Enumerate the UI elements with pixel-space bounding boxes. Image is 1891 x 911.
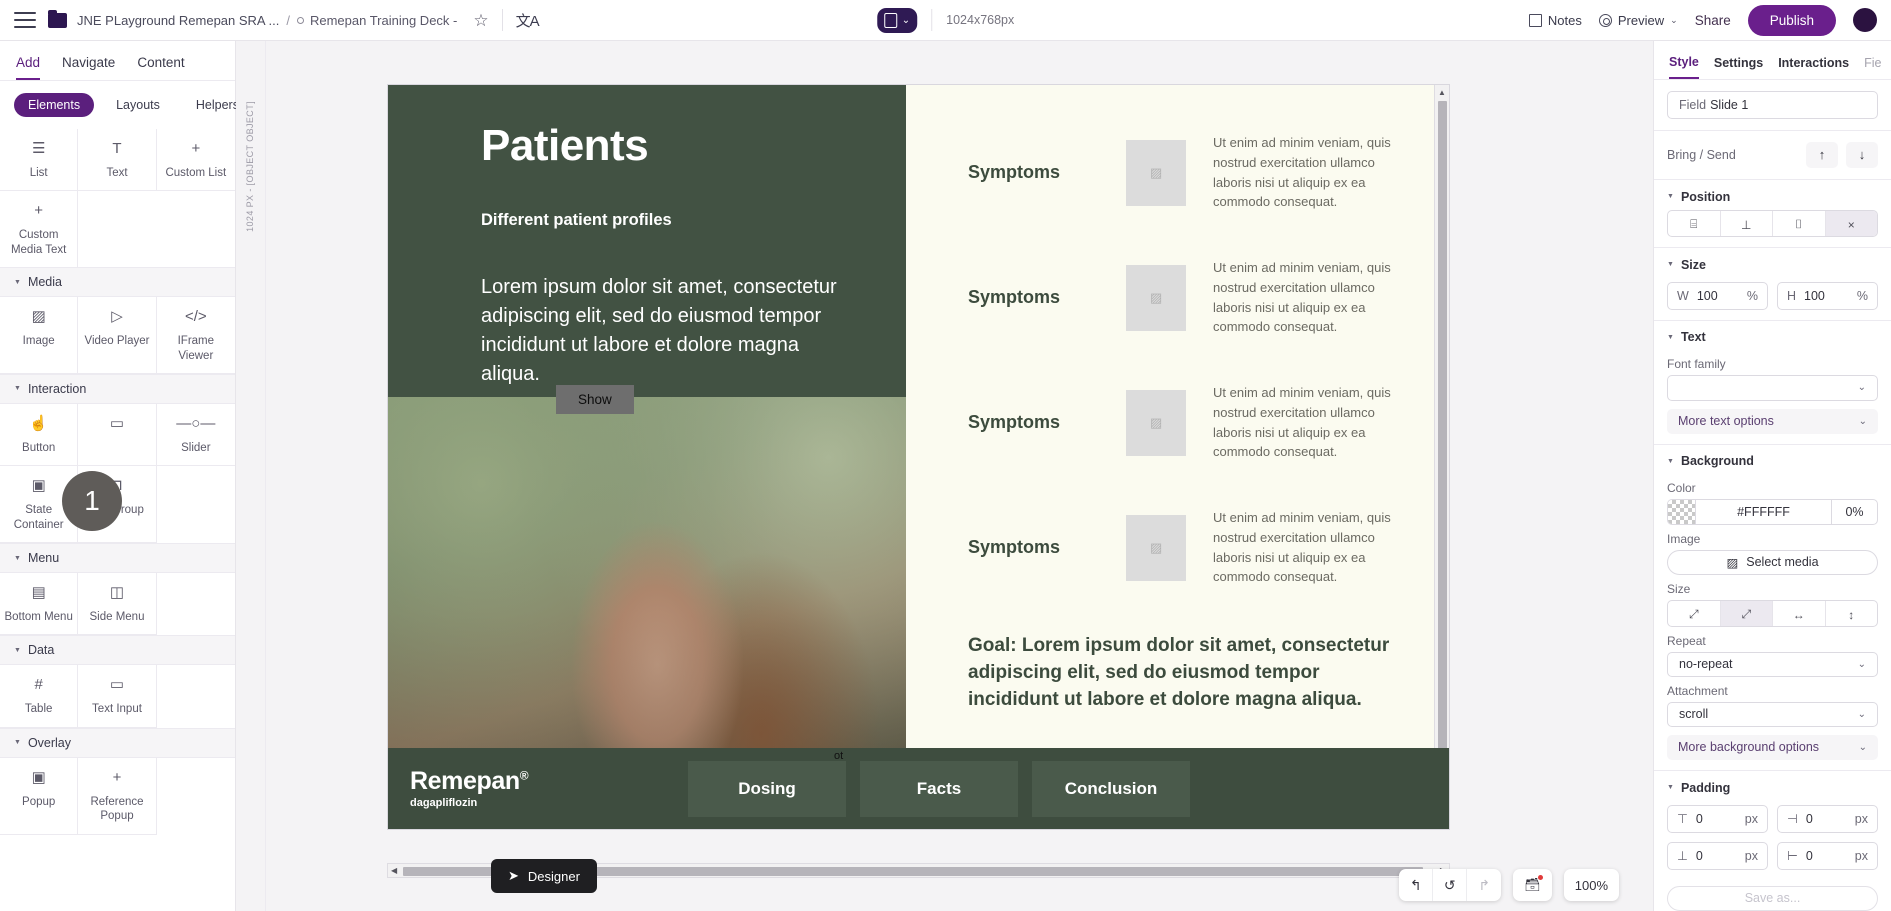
folder-icon[interactable]: [48, 13, 67, 28]
group-header-interaction[interactable]: ▼ Interaction: [0, 374, 235, 404]
field-value: Slide 1: [1710, 98, 1748, 112]
width-input[interactable]: W 100 %: [1667, 282, 1768, 310]
toolbar-divider: [502, 9, 503, 31]
publish-button[interactable]: Publish: [1748, 5, 1836, 36]
font-family-label: Font family: [1654, 350, 1891, 375]
share-button[interactable]: Share: [1695, 13, 1731, 28]
reference-popup-icon: +: [82, 770, 151, 786]
image-icon: ▨: [4, 309, 73, 325]
elements-row-basic: ☰ List T Text + Custom List + Custom Med…: [0, 129, 235, 267]
app-root: JNE PLayground Remepan SRA ... / Remepan…: [0, 0, 1891, 911]
group-title: Data: [28, 643, 54, 657]
element-table[interactable]: # Table: [0, 665, 78, 727]
group-items-menu: ▤ Bottom Menu ◫ Side Menu: [0, 573, 235, 635]
padding-right-icon: ⊣: [1787, 811, 1798, 826]
brand-name: Remepan®: [410, 769, 688, 794]
element-reference-popup[interactable]: + Reference Popup: [78, 758, 156, 835]
editor-body: Add Navigate Content Elements Layouts He…: [0, 41, 1891, 911]
breadcrumb: JNE PLayground Remepan SRA ... / Remepan…: [77, 13, 457, 28]
symptom-text: Ut enim ad minim veniam, quis nostrud ex…: [1213, 383, 1409, 462]
slide-footer: ot Remepan® dagapliflozin Dosing Facts C…: [388, 748, 1450, 829]
element-toggle[interactable]: ▭: [78, 404, 156, 466]
group-header-data[interactable]: ▼ Data: [0, 635, 235, 665]
background-color-field[interactable]: #FFFFFF 0%: [1667, 499, 1878, 524]
avatar[interactable]: [1853, 8, 1877, 32]
grid-filler: [157, 466, 235, 543]
top-actions: Notes Preview ⌄ Share Publish: [1529, 5, 1877, 36]
nav-button-conclusion[interactable]: Conclusion: [1032, 761, 1190, 817]
chip-layouts[interactable]: Layouts: [102, 93, 174, 117]
goal-text: Goal: Lorem ipsum dolor sit amet, consec…: [968, 633, 1409, 714]
chevron-down-icon: ⌄: [1670, 15, 1678, 26]
background-title: Background: [1681, 454, 1754, 468]
padding-title: Padding: [1681, 781, 1730, 795]
field-section: Field Slide 1: [1654, 80, 1891, 130]
text-icon: T: [82, 141, 151, 157]
position-absolute-bottom-option[interactable]: ⌷: [1773, 211, 1826, 237]
padding-right-input[interactable]: ⊣ 0 px: [1777, 805, 1878, 833]
slide-body-text: Lorem ipsum dolor sit amet, consectetur …: [481, 273, 851, 389]
element-label: Button: [4, 441, 73, 455]
plus-icon: +: [161, 141, 231, 157]
element-video-player[interactable]: ▷ Video Player: [78, 297, 156, 374]
tablet-icon: [884, 13, 897, 28]
more-text-options-label: More text options: [1678, 414, 1774, 428]
padding-left-value: 0: [1806, 849, 1813, 863]
slide-right-column: Symptoms ▨ Ut enim ad minim veniam, quis…: [906, 85, 1449, 829]
text-title: Text: [1681, 330, 1706, 344]
right-panel: Style Settings Interactions Fie ⌄ Field …: [1653, 41, 1891, 911]
element-label: Text Input: [82, 702, 151, 716]
video-player-icon: ▷: [82, 309, 151, 325]
chevron-down-icon: ▼: [14, 555, 21, 562]
vertical-ruler: 1024 PX - [OBJECT OBJECT]: [236, 41, 266, 911]
tab-fields[interactable]: Fie: [1864, 56, 1881, 78]
padding-left-icon: ⊢: [1787, 848, 1798, 863]
bring-send-controls: ↑ ↓: [1806, 142, 1878, 168]
chevron-down-icon: ⌄: [1858, 709, 1866, 720]
bring-send-label: Bring / Send: [1667, 148, 1736, 162]
scroll-up-icon[interactable]: ▲: [1438, 85, 1446, 100]
symptom-thumbnail[interactable]: ▨: [1126, 140, 1186, 206]
bring-send-section: Bring / Send ↑ ↓: [1654, 131, 1891, 179]
symptom-title: Symptoms: [968, 537, 1126, 558]
group-title: Interaction: [28, 382, 86, 396]
padding-left-unit: px: [1855, 849, 1868, 863]
size-title: Size: [1681, 258, 1706, 272]
popup-icon: ▣: [4, 770, 73, 786]
background-attachment-select[interactable]: scroll ⌄: [1667, 702, 1878, 727]
background-attachment-label: Attachment: [1654, 677, 1891, 702]
tab-style[interactable]: Style: [1669, 55, 1699, 79]
symptom-row: Symptoms ▨ Ut enim ad minim veniam, quis…: [968, 133, 1409, 212]
element-text[interactable]: T Text: [78, 129, 156, 191]
position-section-header[interactable]: ▼ Position: [1654, 180, 1891, 210]
send-icon: ➤: [508, 868, 519, 884]
designer-label: Designer: [528, 869, 580, 884]
chevron-down-icon: ▼: [14, 279, 21, 286]
bg-size-height-option[interactable]: ↕: [1826, 601, 1878, 627]
chevron-down-icon: ▼: [1667, 193, 1674, 200]
grid-filler: [157, 573, 235, 635]
bg-size-contain-option[interactable]: ⤢: [1721, 601, 1774, 627]
redo-button[interactable]: ↱: [1467, 869, 1501, 901]
center-divider: [931, 9, 932, 31]
symptom-text: Ut enim ad minim veniam, quis nostrud ex…: [1213, 508, 1409, 587]
padding-right-unit: px: [1855, 812, 1868, 826]
background-attachment-value: scroll: [1679, 707, 1708, 721]
chevron-down-icon: ⌄: [1859, 742, 1867, 753]
plus-icon: +: [4, 203, 73, 219]
background-color-label: Color: [1654, 474, 1891, 499]
grid-filler: [157, 191, 235, 267]
element-custom-media-text[interactable]: + Custom Media Text: [0, 191, 78, 267]
right-panel-tabs: Style Settings Interactions Fie ⌄: [1654, 41, 1891, 79]
bottom-menu-icon: ▤: [4, 585, 73, 601]
element-category-chips: Elements Layouts Helpers: [0, 81, 235, 129]
position-none-option[interactable]: ×: [1826, 211, 1878, 237]
group-title: Media: [28, 275, 62, 289]
padding-bottom-icon: ⊥: [1677, 848, 1688, 863]
select-media-button[interactable]: ▨ Select media: [1667, 550, 1878, 575]
padding-section-header[interactable]: ▼ Padding: [1654, 771, 1891, 801]
toggle-icon: ▭: [82, 416, 151, 432]
undo-button[interactable]: ↰: [1399, 869, 1433, 901]
image-placeholder-icon: ▨: [1150, 290, 1162, 306]
chevron-down-icon: ⌄: [902, 15, 910, 26]
font-family-select[interactable]: ⌄: [1667, 375, 1878, 400]
height-input[interactable]: H 100 %: [1777, 282, 1878, 310]
group-items-data: # Table ▭ Text Input: [0, 665, 235, 727]
element-side-menu[interactable]: ◫ Side Menu: [78, 573, 156, 635]
table-icon: #: [4, 677, 73, 693]
element-text-input[interactable]: ▭ Text Input: [78, 665, 156, 727]
chevron-down-icon: ▼: [1667, 784, 1674, 791]
padding-right-value: 0: [1806, 812, 1813, 826]
scroll-left-icon[interactable]: ◀: [388, 866, 400, 875]
more-background-options-label: More background options: [1678, 740, 1819, 754]
chevron-down-icon: ⌄: [1859, 416, 1867, 427]
scroll-thumb-vertical[interactable]: [1438, 101, 1447, 830]
chevron-down-icon: ▼: [14, 739, 21, 746]
text-input-icon: ▭: [82, 677, 151, 693]
size-fields: W 100 % H 100 %: [1654, 278, 1891, 320]
symptom-row: Symptoms ▨ Ut enim ad minim veniam, quis…: [968, 383, 1409, 462]
background-size-options: ⤢ ⤢ ↔ ↕: [1667, 600, 1878, 627]
save-as-button[interactable]: Save as...: [1667, 886, 1878, 911]
favorite-star-icon[interactable]: ☆: [473, 12, 488, 29]
list-icon: ☰: [4, 141, 73, 157]
breadcrumb-deck[interactable]: Remepan Training Deck -: [310, 13, 457, 28]
send-backward-button[interactable]: ↓: [1846, 142, 1878, 168]
element-label: Slider: [161, 441, 231, 455]
brand-mark: ®: [520, 768, 528, 782]
element-slider[interactable]: —○— Slider: [157, 404, 235, 466]
symptom-title: Symptoms: [968, 287, 1126, 308]
image-placeholder-icon: ▨: [1150, 540, 1162, 556]
width-unit: %: [1747, 289, 1758, 303]
text-section-header[interactable]: ▼ Text: [1654, 320, 1891, 350]
notes-icon: [1529, 14, 1542, 27]
chip-elements[interactable]: Elements: [14, 93, 94, 117]
element-label: Image: [4, 334, 73, 348]
nav-button-dosing[interactable]: Dosing: [688, 761, 846, 817]
padding-bottom-unit: px: [1745, 849, 1758, 863]
symptom-text: Ut enim ad minim veniam, quis nostrud ex…: [1213, 258, 1409, 337]
image-placeholder-icon: ▨: [1150, 165, 1162, 181]
height-unit: %: [1857, 289, 1868, 303]
designer-button[interactable]: ➤ Designer: [491, 859, 597, 893]
position-sticky-option[interactable]: ⊥: [1721, 211, 1774, 237]
grid-filler: [157, 665, 235, 727]
grid-filler: [157, 758, 235, 835]
symptom-thumbnail[interactable]: ▨: [1126, 515, 1186, 581]
padding-top-icon: ⊤: [1677, 811, 1688, 826]
side-menu-icon: ◫: [82, 585, 151, 601]
tab-settings[interactable]: Settings: [1714, 56, 1763, 78]
slide-stage[interactable]: Patients Different patient profiles Lore…: [387, 84, 1450, 830]
group-header-menu[interactable]: ▼ Menu: [0, 543, 235, 573]
padding-bottom-value: 0: [1696, 849, 1703, 863]
history-tool-group: ↰ ↺ ↱: [1399, 869, 1501, 901]
element-bottom-menu[interactable]: ▤ Bottom Menu: [0, 573, 78, 635]
element-popup[interactable]: ▣ Popup: [0, 758, 78, 835]
background-size-label: Size: [1654, 575, 1891, 600]
field-label: Field: [1679, 98, 1706, 112]
slide-nav-buttons: Dosing Facts Conclusion: [688, 761, 1190, 817]
device-selector[interactable]: ⌄: [877, 8, 917, 33]
breadcrumb-separator: /: [286, 13, 290, 28]
canvas-dimensions: 1024x768px: [946, 13, 1014, 27]
tab-navigate[interactable]: Navigate: [62, 55, 115, 80]
background-repeat-label: Repeat: [1654, 627, 1891, 652]
background-repeat-select[interactable]: no-repeat ⌄: [1667, 652, 1878, 677]
chevron-down-icon: ▼: [14, 647, 21, 654]
slider-icon: —○—: [161, 416, 231, 432]
bring-forward-button[interactable]: ↑: [1806, 142, 1838, 168]
left-panel-tabs: Add Navigate Content: [0, 41, 235, 80]
slide-title: Patients: [481, 121, 874, 171]
position-options: ⌸ ⊥ ⌷ ×: [1667, 210, 1878, 237]
breadcrumb-project[interactable]: JNE PLayground Remepan SRA ...: [77, 13, 279, 28]
tab-add[interactable]: Add: [16, 55, 40, 80]
more-text-options-button[interactable]: More text options ⌄: [1667, 409, 1878, 434]
notes-label: Notes: [1548, 13, 1582, 28]
slide-left-column: Patients Different patient profiles Lore…: [388, 85, 906, 829]
height-key: H: [1787, 289, 1796, 303]
symptom-row: Symptoms ▨ Ut enim ad minim veniam, quis…: [968, 258, 1409, 337]
notification-dot: [1538, 875, 1543, 880]
top-toolbar: JNE PLayground Remepan SRA ... / Remepan…: [0, 0, 1891, 41]
nav-button-facts[interactable]: Facts: [860, 761, 1018, 817]
background-section-header[interactable]: ▼ Background: [1654, 444, 1891, 474]
element-iframe-viewer[interactable]: </> IFrame Viewer: [157, 297, 235, 374]
slide-hero: Patients Different patient profiles Lore…: [388, 85, 906, 397]
chevron-down-icon: ▼: [1667, 458, 1674, 465]
element-label: Video Player: [82, 334, 151, 348]
bg-size-cover-option[interactable]: ⤢: [1668, 601, 1721, 627]
notes-button[interactable]: Notes: [1529, 13, 1582, 28]
canvas-bottom-tools: ↰ ↺ ↱ 🗃 100%: [1399, 869, 1619, 901]
group-items-interaction: ☝ Button ▭ —○— Slider ▣ State Container: [0, 404, 235, 543]
element-image[interactable]: ▨ Image: [0, 297, 78, 374]
stage-vertical-scrollbar[interactable]: ▲ ▼: [1434, 85, 1449, 829]
chevron-down-icon: ⌄: [1858, 382, 1866, 393]
preview-button[interactable]: Preview ⌄: [1599, 13, 1678, 28]
symptom-title: Symptoms: [968, 412, 1126, 433]
step-badge: 1: [62, 471, 122, 531]
chevron-down-icon: ▼: [1667, 261, 1674, 268]
chevron-down-icon: ▼: [1667, 334, 1674, 341]
height-value: 100: [1804, 289, 1825, 303]
zoom-level-button[interactable]: 100%: [1564, 869, 1619, 901]
brand-word: Remepan: [410, 767, 520, 795]
tab-interactions[interactable]: Interactions: [1778, 56, 1849, 78]
element-list: ☰ List T Text + Custom List + Custom Med…: [0, 129, 235, 911]
symptom-text: Ut enim ad minim veniam, quis nostrud ex…: [1213, 133, 1409, 212]
image-icon: ▨: [1726, 555, 1738, 570]
background-repeat-value: no-repeat: [1679, 657, 1733, 671]
toolbox-button[interactable]: 🗃: [1513, 869, 1552, 901]
element-label: Table: [4, 702, 73, 716]
canvas-area: 1024 PX - [OBJECT OBJECT] Patients Diffe…: [236, 41, 1653, 911]
padding-top-unit: px: [1745, 812, 1758, 826]
ruler-label: 1024 PX - [OBJECT OBJECT]: [245, 101, 255, 232]
symptom-thumbnail[interactable]: ▨: [1126, 390, 1186, 456]
padding-top-value: 0: [1696, 812, 1703, 826]
color-opacity-value[interactable]: 0%: [1831, 500, 1877, 523]
element-button[interactable]: ☝ Button: [0, 404, 78, 466]
chevron-down-icon: ⌄: [1858, 659, 1866, 670]
element-custom-list[interactable]: + Custom List: [157, 129, 235, 191]
element-label: Custom Media Text: [4, 228, 73, 257]
element-label: Text: [82, 166, 151, 180]
size-section-header[interactable]: ▼ Size: [1654, 248, 1891, 278]
group-title: Overlay: [28, 736, 71, 750]
brand-generic-name: dagapliflozin: [410, 797, 688, 809]
group-header-overlay[interactable]: ▼ Overlay: [0, 728, 235, 758]
element-label: IFrame Viewer: [161, 334, 231, 363]
color-swatch[interactable]: [1668, 500, 1696, 523]
preview-label: Preview: [1618, 13, 1664, 28]
chevron-down-icon: ▼: [14, 385, 21, 392]
group-items-overlay: ▣ Popup + Reference Popup: [0, 758, 235, 835]
more-background-options-button[interactable]: More background options ⌄: [1667, 735, 1878, 760]
button-icon: ☝: [4, 416, 73, 432]
element-label: Custom List: [161, 166, 231, 180]
deck-dot-icon: [297, 17, 304, 24]
grid-filler: [78, 191, 156, 267]
footer-overlap-text: ot: [834, 750, 843, 762]
reset-button[interactable]: ↺: [1433, 869, 1467, 901]
padding-top-input[interactable]: ⊤ 0 px: [1667, 805, 1768, 833]
select-media-label: Select media: [1746, 555, 1818, 569]
symptom-title: Symptoms: [968, 162, 1126, 183]
padding-bottom-input[interactable]: ⊥ 0 px: [1667, 842, 1768, 870]
element-label: Side Menu: [82, 610, 151, 624]
group-title: Menu: [28, 551, 59, 565]
image-placeholder-icon: ▨: [1150, 415, 1162, 431]
padding-fields: ⊤ 0 px ⊣ 0 px ⊥ 0 px ⊢ 0 px: [1654, 801, 1891, 878]
position-title: Position: [1681, 190, 1730, 204]
group-items-media: ▨ Image ▷ Video Player </> IFrame Viewer: [0, 297, 235, 374]
padding-left-input[interactable]: ⊢ 0 px: [1777, 842, 1878, 870]
width-key: W: [1677, 289, 1689, 303]
element-label: List: [4, 166, 73, 180]
symptom-row: Symptoms ▨ Ut enim ad minim veniam, quis…: [968, 508, 1409, 587]
element-label: Reference Popup: [82, 795, 151, 824]
tab-content[interactable]: Content: [137, 55, 184, 80]
element-label: Bottom Menu: [4, 610, 73, 624]
translate-icon[interactable]: 文A: [516, 10, 539, 31]
group-header-media[interactable]: ▼ Media: [0, 267, 235, 297]
width-value: 100: [1697, 289, 1718, 303]
element-list[interactable]: ☰ List: [0, 129, 78, 191]
left-panel: Add Navigate Content Elements Layouts He…: [0, 41, 236, 911]
hamburger-icon[interactable]: [14, 12, 36, 28]
iframe-viewer-icon: </>: [161, 309, 231, 325]
bg-size-width-option[interactable]: ↔: [1773, 601, 1826, 627]
show-button[interactable]: Show: [556, 385, 634, 414]
preview-icon: [1599, 14, 1612, 27]
position-absolute-top-option[interactable]: ⌸: [1668, 211, 1721, 237]
brand-block: Remepan® dagapliflozin: [388, 769, 688, 809]
field-name-input[interactable]: Field Slide 1: [1667, 91, 1878, 119]
slide-subtitle: Different patient profiles: [481, 211, 874, 230]
symptom-thumbnail[interactable]: ▨: [1126, 265, 1186, 331]
background-image-label: Image: [1654, 525, 1891, 550]
element-label: Popup: [4, 795, 73, 809]
device-controls: ⌄ 1024x768px: [877, 8, 1015, 33]
color-hex-value[interactable]: #FFFFFF: [1696, 500, 1831, 523]
